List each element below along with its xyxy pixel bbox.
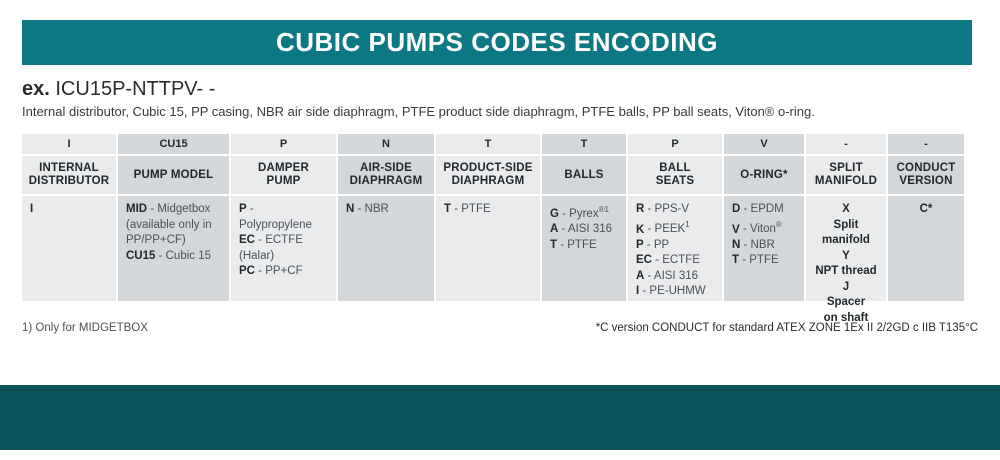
- option-key: G: [550, 208, 559, 220]
- column-options: R - PPS-VK - PEEK1P - PPEC - ECTFEA - AI…: [628, 196, 722, 301]
- column-header-line: BALLS: [564, 169, 603, 182]
- option-key: T: [550, 239, 557, 251]
- option-row: CU15 - Cubic 15: [126, 249, 221, 265]
- option-key: T: [444, 203, 451, 215]
- option-row: C*: [890, 202, 962, 218]
- column-options: MID - Midgetbox(available only inPP/PP+C…: [118, 196, 229, 301]
- option-row: G - Pyrex®1: [550, 202, 618, 222]
- example-code: ICU15P-NTTPV- -: [55, 78, 215, 100]
- option-row: J: [808, 280, 884, 296]
- option-key: T: [732, 254, 739, 266]
- column-header-line: DAMPER: [258, 162, 309, 175]
- option-row: V - Viton®: [732, 218, 796, 238]
- option-row: (available only in: [126, 218, 221, 234]
- option-key: X: [842, 203, 850, 215]
- column-code: P: [628, 134, 722, 154]
- column-header: O-RING*: [724, 156, 804, 194]
- column-header-line: VERSION: [899, 175, 952, 188]
- table-column: IINTERNALDISTRIBUTORI: [22, 134, 116, 301]
- option-key: CU15: [126, 250, 155, 262]
- option-row: T - PTFE: [550, 238, 618, 254]
- option-desc: - ECTFE: [652, 254, 700, 266]
- example-label: ex.: [22, 78, 50, 100]
- option-desc: - PEEK1: [644, 223, 689, 235]
- column-options: P - PolypropyleneEC - ECTFE (Halar)PC - …: [231, 196, 336, 301]
- column-code: I: [22, 134, 116, 154]
- footnote-left: 1) Only for MIDGETBOX: [22, 322, 148, 334]
- column-header-line: DISTRIBUTOR: [29, 175, 110, 188]
- column-options: D - EPDMV - Viton®N - NBRT - PTFE: [724, 196, 804, 301]
- option-row: EC - ECTFE (Halar): [239, 233, 328, 264]
- table-column: CU15PUMP MODELMID - Midgetbox(available …: [118, 134, 229, 301]
- option-desc: - AISI 316: [644, 270, 698, 282]
- column-header-line: INTERNAL: [39, 162, 99, 175]
- option-row: N - NBR: [346, 202, 426, 218]
- option-desc: - NBR: [740, 239, 775, 251]
- option-row: I - PE-UHMW: [636, 284, 714, 300]
- column-options: T - PTFE: [436, 196, 540, 301]
- column-header-line: PRODUCT-SIDE: [443, 162, 532, 175]
- column-options: C*: [888, 196, 964, 301]
- option-row: T - PTFE: [444, 202, 532, 218]
- column-code: N: [338, 134, 434, 154]
- column-header: DAMPERPUMP: [231, 156, 336, 194]
- option-row: Y: [808, 249, 884, 265]
- column-header-line: DIAPHRAGM: [350, 175, 423, 188]
- option-key: P: [636, 239, 644, 251]
- footnote-right: *C version CONDUCT for standard ATEX ZON…: [596, 322, 978, 334]
- option-key: NPT thread: [815, 265, 876, 277]
- option-key: EC: [239, 234, 255, 246]
- option-key: Y: [842, 250, 850, 262]
- option-desc: (available only in: [126, 219, 212, 231]
- option-key: EC: [636, 254, 652, 266]
- table-column: TBALLSG - Pyrex®1A - AISI 316T - PTFE: [542, 134, 626, 301]
- option-key: Spacer: [827, 296, 865, 308]
- column-header: BALLS: [542, 156, 626, 194]
- example-code-line: ex. ICU15P-NTTPV- -: [22, 78, 215, 101]
- option-key: PC: [239, 265, 255, 277]
- option-row: T - PTFE: [732, 253, 796, 269]
- option-desc: - PP: [644, 239, 670, 251]
- option-desc: - PPS-V: [644, 203, 689, 215]
- option-row: EC - ECTFE: [636, 253, 714, 269]
- column-header: PUMP MODEL: [118, 156, 229, 194]
- table-column: NAIR-SIDEDIAPHRAGMN - NBR: [338, 134, 434, 301]
- option-row: Spacer: [808, 295, 884, 311]
- column-options: G - Pyrex®1A - AISI 316T - PTFE: [542, 196, 626, 301]
- option-row: K - PEEK1: [636, 218, 714, 238]
- option-row: NPT thread: [808, 264, 884, 280]
- column-header: BALLSEATS: [628, 156, 722, 194]
- option-row: Split manifold: [808, 218, 884, 249]
- column-header-line: SPLIT: [829, 162, 863, 175]
- option-row: N - NBR: [732, 238, 796, 254]
- title-bar: CUBIC PUMPS CODES ENCODING: [22, 20, 972, 65]
- option-row: A - AISI 316: [636, 269, 714, 285]
- bottom-accent-bar: [0, 385, 1000, 450]
- option-desc: - NBR: [354, 203, 389, 215]
- column-header-line: BALL: [659, 162, 690, 175]
- column-header: PRODUCT-SIDEDIAPHRAGM: [436, 156, 540, 194]
- option-desc: PP/PP+CF): [126, 234, 186, 246]
- table-column: TPRODUCT-SIDEDIAPHRAGMT - PTFE: [436, 134, 540, 301]
- column-header-line: O-RING*: [740, 169, 787, 182]
- column-options: XSplit manifoldYNPT threadJSpaceron shaf…: [806, 196, 886, 301]
- option-desc: - PTFE: [557, 239, 597, 251]
- option-desc: - Midgetbox: [147, 203, 210, 215]
- option-row: P - Polypropylene: [239, 202, 328, 233]
- table-column: PDAMPERPUMPP - PolypropyleneEC - ECTFE (…: [231, 134, 336, 301]
- column-header-line: PUMP: [266, 175, 300, 188]
- column-code: CU15: [118, 134, 229, 154]
- column-header-line: CONDUCT: [897, 162, 956, 175]
- option-desc: - Viton®: [740, 223, 782, 235]
- column-header-line: DIAPHRAGM: [452, 175, 525, 188]
- table-column: PBALLSEATSR - PPS-VK - PEEK1P - PPEC - E…: [628, 134, 722, 301]
- option-key: MID: [126, 203, 147, 215]
- column-header: INTERNALDISTRIBUTOR: [22, 156, 116, 194]
- encoding-sheet: CUBIC PUMPS CODES ENCODING ex. ICU15P-NT…: [0, 0, 1000, 460]
- column-code: P: [231, 134, 336, 154]
- option-row: R - PPS-V: [636, 202, 714, 218]
- option-desc: - Polypropylene: [239, 203, 312, 231]
- encoding-table: IINTERNALDISTRIBUTORICU15PUMP MODELMID -…: [22, 134, 978, 301]
- column-header: CONDUCTVERSION: [888, 156, 964, 194]
- column-header-line: SEATS: [656, 175, 695, 188]
- option-desc: - PE-UHMW: [639, 285, 705, 297]
- column-code: T: [436, 134, 540, 154]
- option-row: I: [30, 202, 108, 218]
- option-key: J: [843, 281, 849, 293]
- column-header: AIR-SIDEDIAPHRAGM: [338, 156, 434, 194]
- option-row: X: [808, 202, 884, 218]
- option-desc: - EPDM: [740, 203, 783, 215]
- page-title: CUBIC PUMPS CODES ENCODING: [276, 27, 718, 58]
- option-desc: - PTFE: [451, 203, 491, 215]
- option-key: I: [30, 203, 33, 215]
- option-row: PC - PP+CF: [239, 264, 328, 280]
- column-code: -: [806, 134, 886, 154]
- option-desc: - Pyrex®1: [559, 208, 609, 220]
- option-desc: - PTFE: [739, 254, 779, 266]
- column-header-line: PUMP MODEL: [134, 169, 214, 182]
- option-desc: - PP+CF: [255, 265, 303, 277]
- option-row: A - AISI 316: [550, 222, 618, 238]
- option-desc: - Cubic 15: [155, 250, 211, 262]
- table-column: -CONDUCTVERSIONC*: [888, 134, 964, 301]
- option-key: C*: [920, 203, 933, 215]
- option-key: V: [732, 223, 740, 235]
- column-code: V: [724, 134, 804, 154]
- column-options: I: [22, 196, 116, 301]
- column-code: -: [888, 134, 964, 154]
- option-row: PP/PP+CF): [126, 233, 221, 249]
- option-row: P - PP: [636, 238, 714, 254]
- table-column: VO-RING*D - EPDMV - Viton®N - NBRT - PTF…: [724, 134, 804, 301]
- column-header-line: AIR-SIDE: [360, 162, 412, 175]
- option-row: MID - Midgetbox: [126, 202, 221, 218]
- column-header-line: MANIFOLD: [815, 175, 877, 188]
- table-column: -SPLITMANIFOLDXSplit manifoldYNPT thread…: [806, 134, 886, 301]
- option-key: P: [239, 203, 247, 215]
- option-key: Split manifold: [822, 219, 870, 247]
- example-description: Internal distributor, Cubic 15, PP casin…: [22, 104, 815, 119]
- column-header: SPLITMANIFOLD: [806, 156, 886, 194]
- option-row: D - EPDM: [732, 202, 796, 218]
- option-desc: - AISI 316: [558, 223, 612, 235]
- column-options: N - NBR: [338, 196, 434, 301]
- column-code: T: [542, 134, 626, 154]
